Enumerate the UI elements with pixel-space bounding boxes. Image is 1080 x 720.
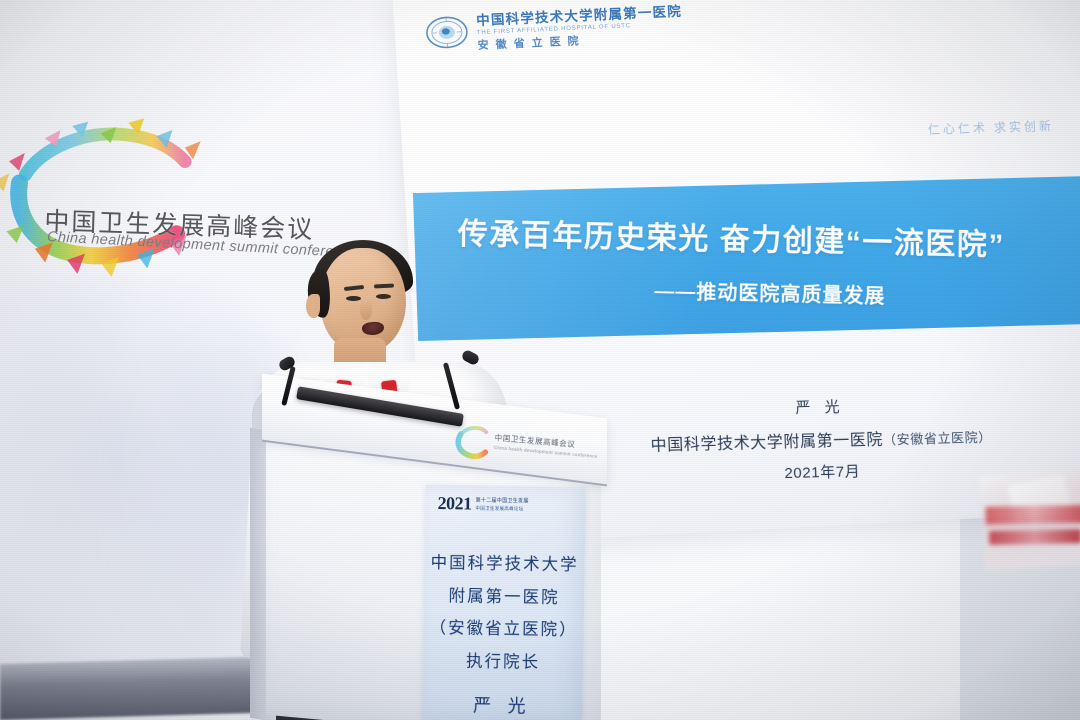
slide-presenter-block: 严 光 中国科学技术大学附属第一医院（安徽省立医院） 2021年7月 (580, 390, 1063, 488)
name-sign-person: 严 光 (422, 687, 583, 720)
presenter-affiliation-main: 中国科学技术大学附属第一医院 (650, 432, 883, 455)
presenter-name: 严 光 (580, 390, 1061, 424)
photo-scene: 中国卫生发展高峰会议 China health development summ… (0, 0, 1080, 720)
speaker-ear (306, 294, 320, 318)
hospital-seal-emblem (424, 9, 470, 55)
speaker-eye-right (376, 294, 391, 299)
name-sign-year: 2021 (437, 493, 471, 515)
right-red-banner (979, 468, 1080, 571)
podium-conference-logo: 中国卫生发展高峰会议 China health development summ… (450, 419, 563, 472)
name-sign-header-line1: 第十二届中国卫生发展 (476, 497, 529, 505)
slide-title-sub: ——推动医院高质量发展 (654, 275, 885, 309)
name-sign-line: （安徽省立医院） (423, 612, 583, 647)
red-banner-text-row (985, 505, 1080, 525)
hospital-motto: 仁心仁术 求实创新 (928, 117, 1055, 138)
red-banner-text-row (989, 529, 1080, 545)
presenter-affiliation-paren: （安徽省立医院） (883, 430, 992, 448)
name-sign-lines: 中国科学技术大学 附属第一医院 （安徽省立医院） 执行院长 严 光 (422, 547, 585, 720)
podium-name-sign: 2021 第十二届中国卫生发展 中国卫生发展高峰论坛 中国科学技术大学 附属第一… (422, 485, 586, 720)
speaker-eye-left (346, 296, 361, 301)
name-sign-line: 附属第一医院 (424, 579, 584, 614)
name-sign-line: 中国科学技术大学 (424, 547, 584, 582)
conference-c-swirl-logo-small (451, 421, 492, 462)
speaker-nose (360, 300, 372, 320)
name-sign-line: 执行院长 (423, 645, 583, 680)
hospital-logo-header: 中国科学技术大学附属第一医院 THE FIRST AFFILIATED HOSP… (424, 0, 684, 55)
name-sign-header-line2: 中国卫生发展高峰论坛 (475, 506, 528, 513)
presenter-affiliation: 中国科学技术大学附属第一医院（安徽省立医院） (581, 421, 1062, 458)
name-sign-header: 2021 第十二届中国卫生发展 中国卫生发展高峰论坛 (437, 493, 528, 515)
